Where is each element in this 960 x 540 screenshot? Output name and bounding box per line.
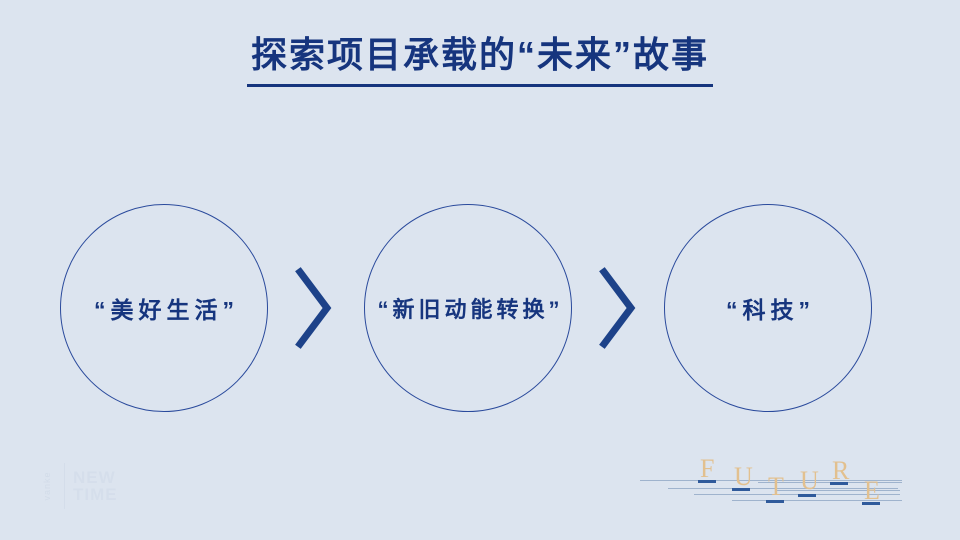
page-title: 探索项目承载的“未来”故事: [247, 32, 713, 87]
title-block: 探索项目承载的“未来”故事: [0, 32, 960, 87]
deco-tick-3: [766, 500, 784, 503]
brand-newtime-line1: NEW: [73, 469, 118, 486]
deco-tick-4: [798, 494, 816, 497]
flow-node-2[interactable]: “新旧动能转换”: [364, 204, 572, 412]
flow-diagram: “美好生活” “新旧动能转换” “科技”: [0, 204, 960, 414]
deco-tick-2: [732, 488, 750, 491]
deco-letter-u1: U: [734, 464, 753, 490]
deco-letter-f: F: [700, 456, 714, 482]
deco-letter-r: R: [832, 458, 849, 484]
brand-newtime: NEW TIME: [73, 469, 118, 503]
deco-letter-t: T: [768, 474, 784, 500]
deco-tick-1: [698, 480, 716, 483]
chevron-right-icon-2: [598, 266, 638, 350]
flow-node-1-label: “美好生活”: [89, 291, 239, 325]
logo-divider: [64, 463, 65, 509]
deco-letter-u2: U: [800, 468, 819, 494]
deco-tick-6: [862, 502, 880, 505]
flow-node-1[interactable]: “美好生活”: [60, 204, 268, 412]
brand-name-vanke: vanke: [42, 469, 52, 503]
slide-canvas: 探索项目承载的“未来”故事 “美好生活” “新旧动能转换” “科技” vanke: [0, 0, 960, 540]
deco-tick-5: [830, 482, 848, 485]
deco-line-6: [776, 490, 900, 491]
chevron-right-icon-1: [294, 266, 334, 350]
future-decoration: F U T U R E: [640, 452, 940, 524]
brand-watermark: vanke NEW TIME: [30, 460, 120, 512]
flow-node-3[interactable]: “科技”: [664, 204, 872, 412]
flow-node-3-label: “科技”: [721, 291, 815, 325]
flow-node-2-label: “新旧动能转换”: [372, 292, 563, 324]
brand-newtime-line2: TIME: [73, 486, 118, 503]
deco-letter-e: E: [864, 478, 880, 504]
